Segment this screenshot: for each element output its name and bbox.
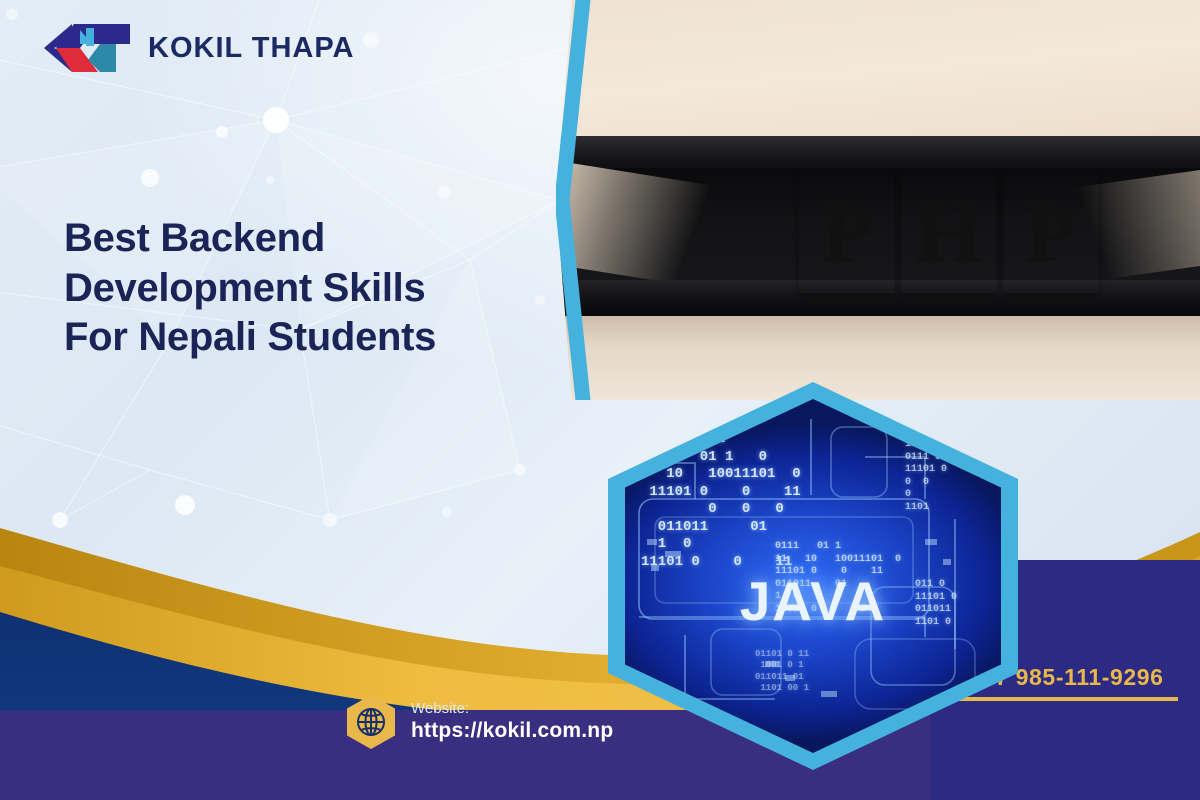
php-cube-2: H [901,175,997,293]
website-label: Website: [411,700,613,719]
java-label: JAVA [625,569,1001,633]
globe-icon [345,694,397,750]
website-block[interactable]: Website: https://kokil.com.np [345,694,613,750]
headline-line-3: For Nepali Students [64,313,554,363]
website-url[interactable]: https://kokil.com.np [411,718,613,744]
headline-line-1: Best Backend [64,214,554,264]
brand-name: KOKIL THAPA [148,32,354,65]
php-cube-3: P [1003,175,1099,293]
kt-monogram-logo-icon [42,22,134,74]
page-title: Best Backend Development Skills For Nepa… [64,214,554,363]
headline-line-2: Development Skills [64,264,554,314]
php-photo: P H P [556,0,1200,400]
php-cube-1: P [799,175,895,293]
brand-logo[interactable]: KOKIL THAPA [42,22,354,74]
php-image-panel: P H P [556,0,1200,400]
poster-canvas: P H P [0,0,1200,800]
java-binary-bottom: 01101 0 11 1001 0 1 011011 01 1101 00 1 [755,649,809,694]
java-image-panel: 1100 0111 0 01 1 0 10 10011101 0 11101 0… [608,382,1018,770]
